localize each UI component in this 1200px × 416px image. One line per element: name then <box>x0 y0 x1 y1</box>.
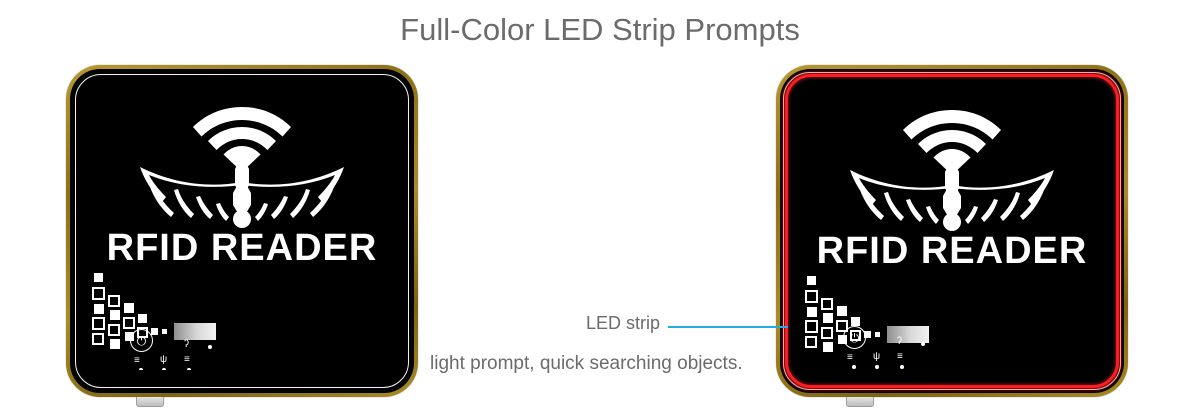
connector-tab <box>846 397 874 407</box>
wireless-sub-icon: ≡ <box>897 352 903 362</box>
hairline-gap-mask <box>118 370 236 378</box>
usb-icon: ψ <box>160 355 167 365</box>
indicator-dot <box>208 345 212 349</box>
callout-label-led-strip: LED strip <box>586 313 660 334</box>
rfid-reader-device-led-off: RFID READER ⏻ ≡ <box>66 65 418 397</box>
wireless-sub-icon: ≡ <box>184 355 190 365</box>
rfid-wave-antenna-icon <box>78 89 406 234</box>
power-button-icon[interactable]: ⏻ <box>843 326 866 349</box>
connector-tab <box>136 397 164 407</box>
usb-icon: ψ <box>873 352 880 362</box>
device-face-panel: RFID READER ⏻ ≡ ψ <box>791 80 1113 382</box>
indicator-dot <box>921 342 925 346</box>
device-wordmark: RFID READER <box>791 230 1113 273</box>
wireless-icon: ʔ <box>184 340 189 350</box>
status-indicator-row: ⏻ ≡ ψ ʔ ≡ <box>108 329 288 375</box>
callout-leader-line <box>668 326 788 328</box>
wireless-icon: ʔ <box>897 337 902 347</box>
feature-caption: light prompt, quick searching objects. <box>430 353 743 375</box>
device-wordmark: RFID READER <box>78 227 406 270</box>
page-title: Full-Color LED Strip Prompts <box>0 12 1200 48</box>
power-button-icon[interactable]: ⏻ <box>130 329 153 352</box>
status-indicator-row: ⏻ ≡ ψ ʔ ≡ <box>821 326 1001 372</box>
signal-level-icon: ≡ <box>847 353 853 363</box>
signal-level-icon: ≡ <box>134 356 140 366</box>
rfid-wave-antenna-icon <box>791 92 1113 237</box>
device-face-panel: RFID READER ⏻ ≡ <box>78 77 406 385</box>
rfid-reader-device-led-on: RFID READER ⏻ ≡ ψ <box>776 65 1128 397</box>
hairline-gap-mask <box>831 369 949 377</box>
